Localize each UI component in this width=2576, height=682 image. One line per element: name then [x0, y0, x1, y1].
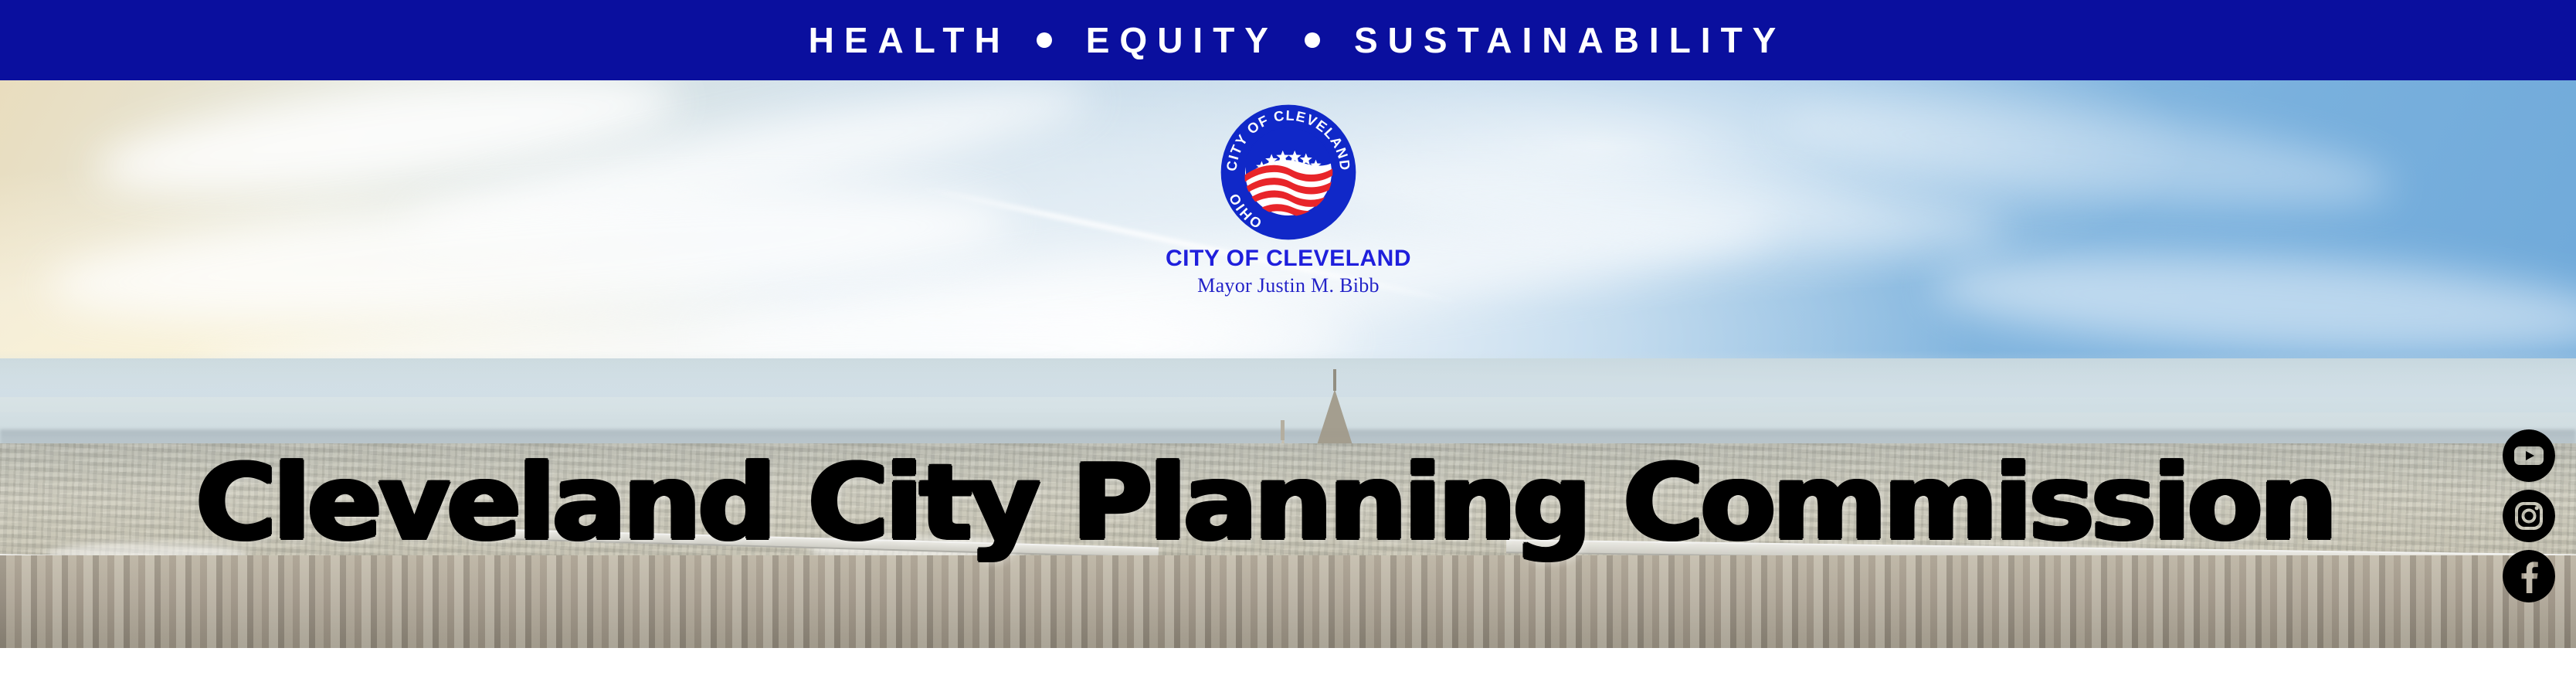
seal-subtitle-mayor: Mayor Justin M. Bibb: [1072, 275, 1505, 297]
facebook-icon[interactable]: [2503, 550, 2555, 602]
banner-bullet-icon: [1305, 32, 1320, 48]
foreground-neighborhood: [0, 555, 2576, 648]
banner-word-equity: EQUITY: [1086, 22, 1278, 58]
banner-word-health: HEALTH: [809, 22, 1010, 58]
instagram-icon[interactable]: [2503, 490, 2555, 542]
social-media-rail: [2503, 429, 2555, 602]
youtube-icon[interactable]: [2503, 429, 2555, 482]
banner-tagline: HEALTH EQUITY SUSTAINABILITY: [809, 22, 1787, 58]
banner-word-sustainability: SUSTAINABILITY: [1354, 22, 1786, 58]
seal-title: CITY OF CLEVELAND: [1072, 246, 1505, 271]
top-banner: HEALTH EQUITY SUSTAINABILITY: [0, 0, 2576, 80]
city-of-cleveland-brand-block: CITY OF CLEVELAND OHIO: [1072, 102, 1505, 322]
banner-bullet-icon: [1037, 32, 1052, 48]
page-title: Cleveland City Planning Commission: [0, 451, 2576, 555]
city-seal-icon: CITY OF CLEVELAND OHIO: [1218, 102, 1359, 243]
bottom-whitespace: [0, 648, 2576, 682]
